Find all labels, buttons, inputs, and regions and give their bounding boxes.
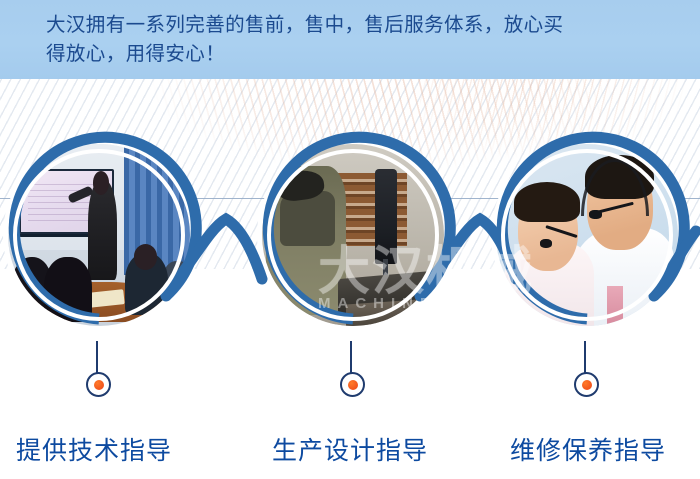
- stage-photo-presale: [8, 144, 190, 326]
- photo-headset-mic-female: [540, 239, 553, 248]
- promo-banner: 大汉拥有一系列完善的售前，售中，售后服务体系，放心买 得放心，用得安心！ 售前 …: [0, 0, 700, 479]
- stage-caption-aftersale: 维修保养指导: [510, 431, 666, 467]
- stage-dot-marker-3: [574, 372, 599, 397]
- dot-core-icon: [94, 380, 104, 390]
- photo-customer-service: [496, 144, 678, 326]
- photo-workbench-base: [346, 300, 419, 326]
- stem-line-1: [96, 341, 98, 373]
- stage-dot-marker-1: [86, 372, 111, 397]
- photo-drill-machine: [375, 169, 397, 264]
- photo-headset-mic-male: [589, 210, 602, 219]
- photo-attendee-3-head: [134, 244, 158, 269]
- dot-core-icon: [582, 380, 592, 390]
- photo-training-room: [8, 144, 190, 326]
- body-area: 售前 售中 售后: [0, 79, 700, 479]
- dot-core-icon: [348, 380, 358, 390]
- photo-presenter-head: [93, 171, 109, 195]
- photo-presenter-body: [88, 180, 117, 280]
- stage-photo-aftersale: [496, 144, 678, 326]
- header-line-1: 大汉拥有一系列完善的售前，售中，售后服务体系，放心买: [46, 11, 666, 40]
- header-text: 大汉拥有一系列完善的售前，售中，售后服务体系，放心买 得放心，用得安心！: [46, 11, 666, 69]
- stage-dot-marker-2: [340, 372, 365, 397]
- stage-caption-presale: 提供技术指导: [16, 431, 172, 467]
- stem-line-2: [350, 341, 352, 373]
- photo-agent-female-hair: [514, 182, 580, 222]
- photo-agent-male-tie: [607, 286, 623, 326]
- stage-photo-insale: [262, 144, 444, 326]
- header-line-2: 得放心，用得安心！: [46, 40, 666, 69]
- photo-machining-workshop: [262, 144, 444, 326]
- photo-attendee-2: [44, 257, 91, 323]
- header-band: 大汉拥有一系列完善的售前，售中，售后服务体系，放心买 得放心，用得安心！: [0, 0, 700, 79]
- stem-line-3: [584, 341, 586, 373]
- stage-caption-insale: 生产设计指导: [272, 431, 428, 467]
